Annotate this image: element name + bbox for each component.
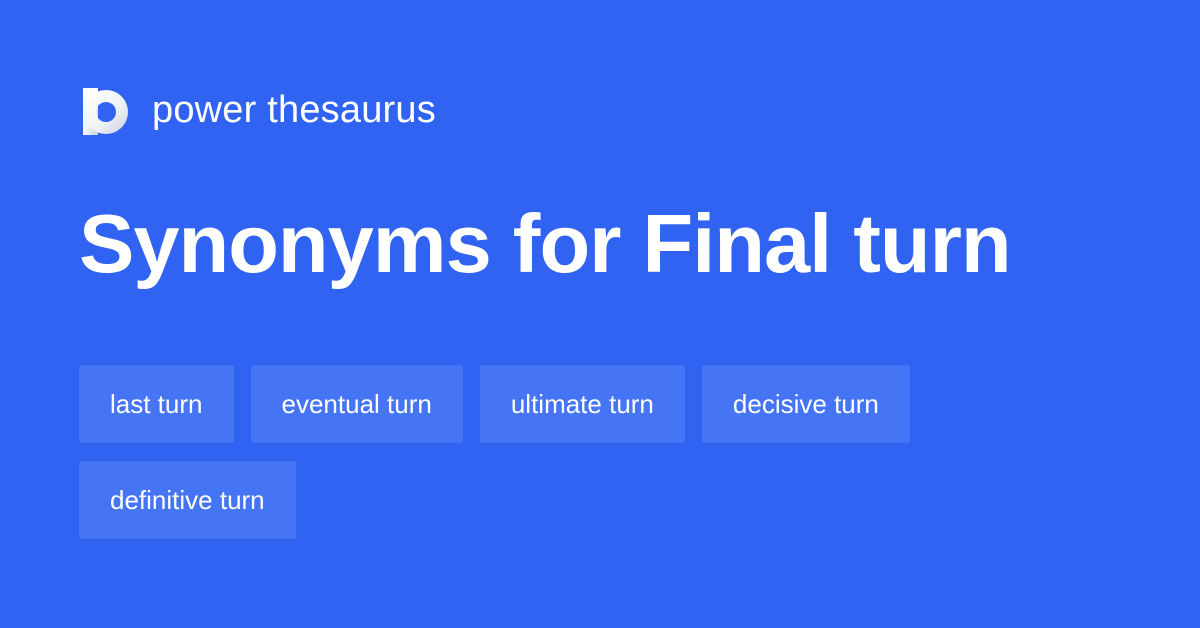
power-thesaurus-b-logo-icon xyxy=(79,82,135,138)
synonym-chip[interactable]: definitive turn xyxy=(79,461,296,539)
synonym-chip[interactable]: ultimate turn xyxy=(480,365,685,443)
brand-name: power thesaurus xyxy=(152,88,436,132)
synonym-chip[interactable]: decisive turn xyxy=(702,365,910,443)
synonym-chip[interactable]: last turn xyxy=(79,365,234,443)
brand-lockup[interactable]: power thesaurus xyxy=(79,82,436,138)
share-card: power thesaurus Synonyms for Final turn … xyxy=(0,0,1200,628)
synonym-chip-list: last turn eventual turn ultimate turn de… xyxy=(79,365,1119,539)
page-title: Synonyms for Final turn xyxy=(79,196,1011,292)
synonym-chip[interactable]: eventual turn xyxy=(251,365,463,443)
